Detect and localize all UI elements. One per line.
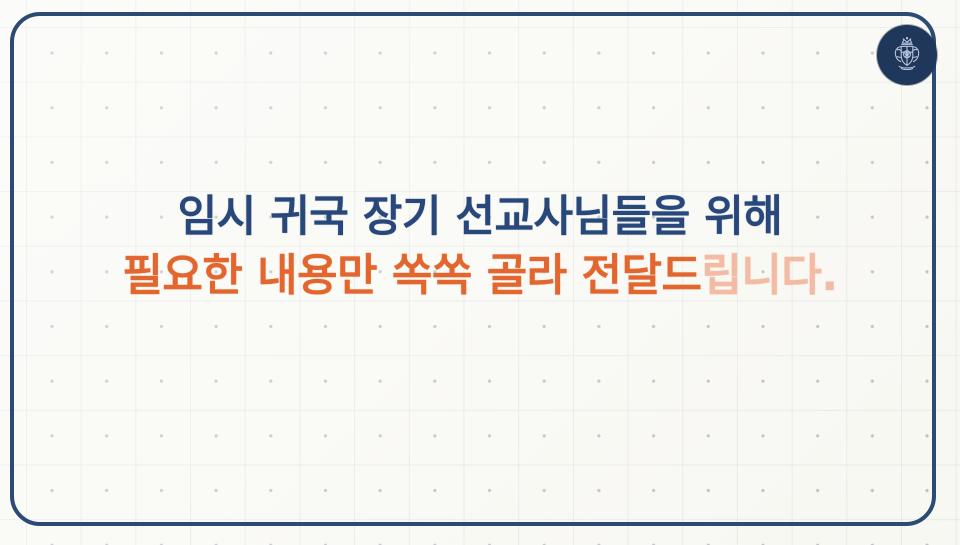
crest-emblem-icon xyxy=(877,25,937,85)
headline-line-2-pending: 립니다. xyxy=(701,250,837,301)
headline-block: 임시 귀국 장기 선교사님들을 위해 필요한 내용만 쏙쏙 골라 전달드립니다. xyxy=(0,196,960,298)
headline-line-2-typed: 필요한 내용만 쏙쏙 골라 전달드 xyxy=(122,250,701,301)
headline-line-1: 임시 귀국 장기 선교사님들을 위해 xyxy=(0,196,960,239)
slide-canvas: 임시 귀국 장기 선교사님들을 위해 필요한 내용만 쏙쏙 골라 전달드립니다. xyxy=(0,0,960,545)
headline-line-2: 필요한 내용만 쏙쏙 골라 전달드립니다. xyxy=(0,254,960,298)
